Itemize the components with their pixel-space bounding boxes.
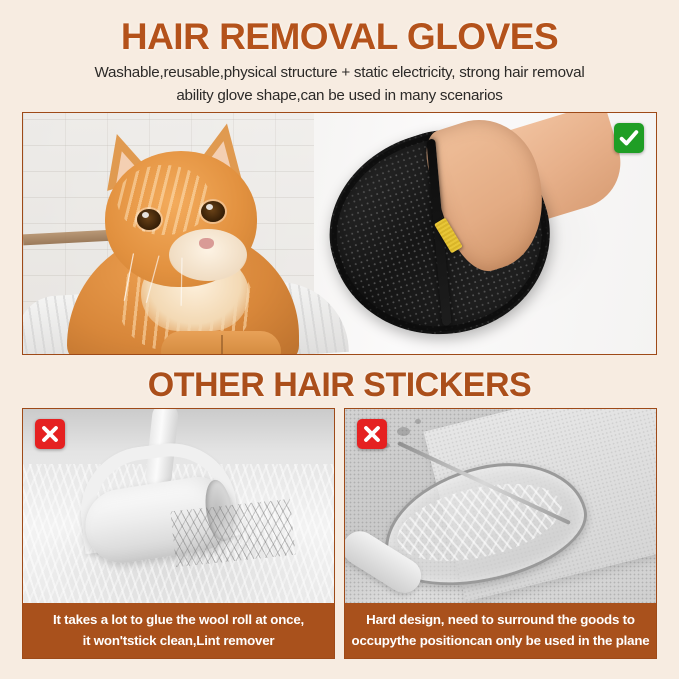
- x-badge-right: [357, 419, 387, 449]
- panel-caption-left: It takes a lot to glue the wool roll at …: [23, 603, 334, 658]
- cat-paws: [161, 331, 281, 355]
- lint-speck: [415, 419, 421, 424]
- subtitle-line-2: ability glove shape,can be used in many …: [40, 85, 639, 108]
- page-subtitle: Washable,reusable,physical structure + s…: [40, 62, 639, 107]
- check-badge: [614, 123, 644, 153]
- panel-caption-right: Hard design, need to surround the goods …: [345, 603, 656, 658]
- product-infographic: HAIR REMOVAL GLOVES Washable,reusable,ph…: [0, 0, 679, 679]
- hero-product-photo: [22, 112, 657, 355]
- cat-eye-right: [201, 201, 225, 222]
- comparison-panel-hair-remover: Hard design, need to surround the goods …: [344, 408, 657, 659]
- section-title: OTHER HAIR STICKERS: [0, 366, 679, 405]
- caption-left-line-2: it won'tstick clean,Lint remover: [83, 633, 275, 648]
- lint-roller-photo: [23, 409, 334, 605]
- glove-illustration: [323, 125, 583, 349]
- caption-right-line-1: Hard design, need to surround the goods …: [366, 612, 635, 627]
- x-icon: [39, 423, 61, 445]
- cat-eye-left: [137, 209, 161, 230]
- lint-speck: [397, 427, 410, 436]
- lint-roller-scene: [23, 409, 334, 605]
- comparison-panel-lint-roller: It takes a lot to glue the wool roll at …: [22, 408, 335, 659]
- cat-illustration: [65, 135, 313, 355]
- x-icon: [361, 423, 383, 445]
- x-badge-left: [35, 419, 65, 449]
- page-title: HAIR REMOVAL GLOVES: [0, 18, 679, 57]
- caption-right-line-2: occupythe positioncan only be used in th…: [352, 633, 650, 648]
- caption-left-line-1: It takes a lot to glue the wool roll at …: [53, 612, 304, 627]
- subtitle-line-1: Washable,reusable,physical structure + s…: [40, 62, 639, 85]
- hair-remover-photo: [345, 409, 656, 605]
- cat-nose: [199, 238, 214, 249]
- carpet-scene: [345, 409, 656, 605]
- hero-photo-background: [23, 113, 656, 354]
- check-icon: [618, 127, 640, 149]
